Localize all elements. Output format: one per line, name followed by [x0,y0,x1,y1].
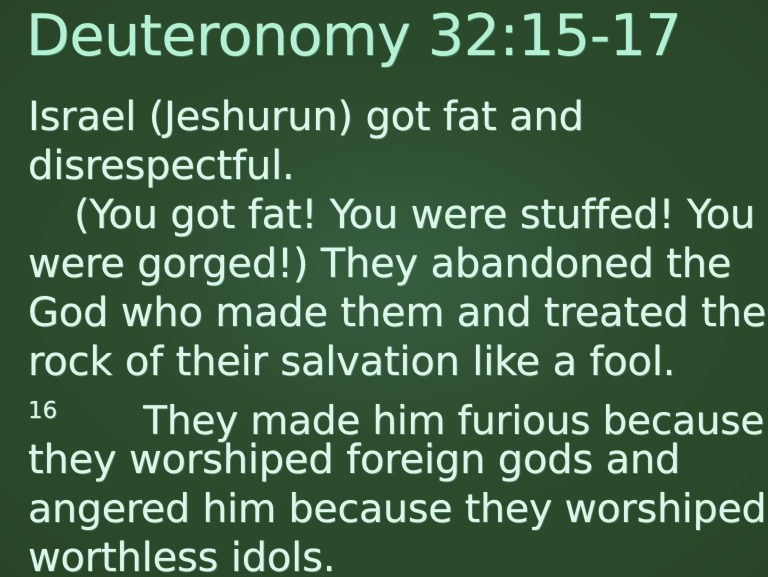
body-line-8: they worshiped foreign gods and [28,436,764,485]
body-line-10: worthless idols. [28,534,764,577]
verse-number-16: 16 [28,398,57,424]
slide-title: Deuteronomy 32:15-17 [26,8,681,65]
body-line-5: God who made them and treated the [28,289,764,338]
body-line-9: angered him because they worshiped [28,485,764,534]
body-line-1: Israel (Jeshurun) got fat and [28,93,764,142]
body-line-4: were gorged!) They abandoned the [28,240,764,289]
presentation-slide: Deuteronomy 32:15-17 Israel (Jeshurun) g… [0,0,768,577]
body-line-6: rock of their salvation like a fool. [28,338,764,387]
body-line-3: (You got fat! You were stuffed! You [28,191,764,240]
body-line-2: disrespectful. [28,142,764,191]
slide-body-text: Israel (Jeshurun) got fat and disrespect… [28,93,764,577]
body-line-7: 16They made him furious because [28,387,764,436]
